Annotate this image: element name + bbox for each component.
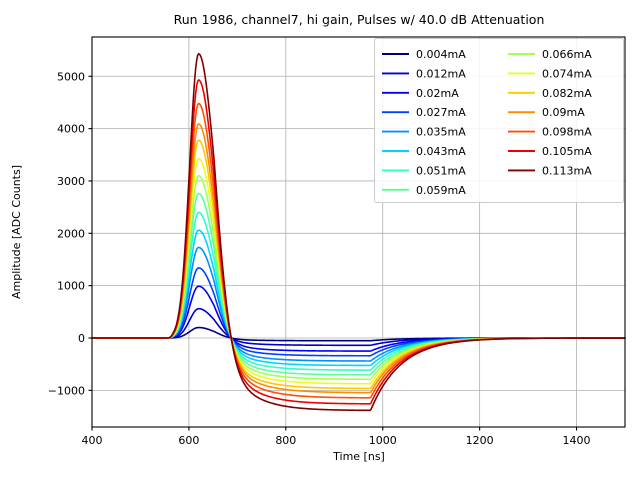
y-tick-label: 4000 (57, 123, 85, 136)
series-line-0.066mA (92, 176, 625, 380)
y-axis-ticks: −1000010002000300040005000 (48, 70, 92, 397)
chart-title: Run 1986, channel7, hi gain, Pulses w/ 4… (174, 12, 545, 27)
x-tick-label: 1000 (369, 434, 397, 447)
y-tick-label: 5000 (57, 70, 85, 83)
legend-background (375, 39, 624, 203)
series-line-0.051mA (92, 212, 625, 370)
series-line-0.035mA (92, 247, 625, 361)
x-tick-label: 400 (82, 434, 103, 447)
pulse-chart: Run 1986, channel7, hi gain, Pulses w/ 4… (0, 0, 640, 480)
legend-label: 0.105mA (542, 145, 592, 158)
x-axis-label: Time [ns] (332, 450, 385, 463)
y-tick-label: 1000 (57, 280, 85, 293)
y-tick-label: 0 (78, 332, 85, 345)
legend-label: 0.082mA (542, 87, 592, 100)
legend-label: 0.004mA (416, 48, 466, 61)
legend-label: 0.098mA (542, 126, 592, 139)
legend-label: 0.027mA (416, 106, 466, 119)
series-line-0.059mA (92, 194, 625, 375)
legend-label: 0.051mA (416, 164, 466, 177)
y-tick-label: −1000 (48, 384, 85, 397)
legend-label: 0.074mA (542, 67, 592, 80)
legend-label: 0.035mA (416, 126, 466, 139)
y-axis-label: Amplitude [ADC Counts] (10, 165, 23, 299)
legend-label: 0.012mA (416, 67, 466, 80)
legend-label: 0.113mA (542, 164, 592, 177)
series-line-0.027mA (92, 268, 625, 356)
figure-canvas: Run 1986, channel7, hi gain, Pulses w/ 4… (0, 0, 640, 480)
series-line-0.012mA (92, 309, 625, 346)
x-tick-label: 1200 (466, 434, 494, 447)
legend-label: 0.09mA (542, 106, 585, 119)
legend-label: 0.043mA (416, 145, 466, 158)
x-axis-ticks: 400600800100012001400 (82, 427, 591, 447)
legend[interactable]: 0.004mA0.012mA0.02mA0.027mA0.035mA0.043m… (375, 39, 624, 203)
legend-label: 0.059mA (416, 184, 466, 197)
legend-label: 0.066mA (542, 48, 592, 61)
x-tick-label: 800 (275, 434, 296, 447)
y-tick-label: 2000 (57, 227, 85, 240)
x-tick-label: 600 (178, 434, 199, 447)
x-tick-label: 1400 (563, 434, 591, 447)
legend-label: 0.02mA (416, 87, 459, 100)
y-tick-label: 3000 (57, 175, 85, 188)
